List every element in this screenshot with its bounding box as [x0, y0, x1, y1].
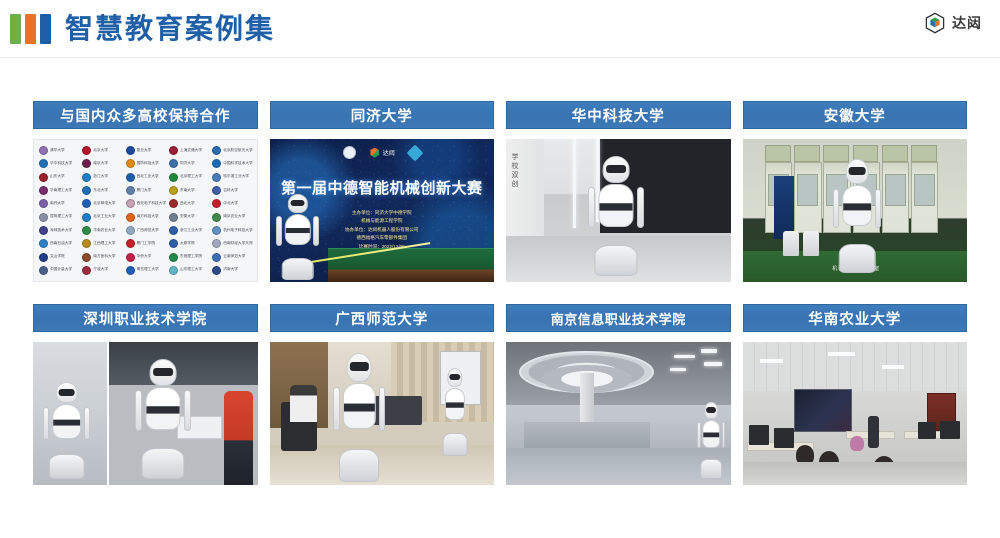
university-logo-item: 广西师范大学: [124, 224, 167, 237]
university-name: 西北大学: [180, 202, 195, 206]
small-robot: [803, 231, 819, 257]
university-seal-icon: [39, 266, 48, 275]
case-card-tongji-university[interactable]: 同济大学 达闼 第一届中德智能机械创新大赛 主办单位：同济大学中德学院机械与能源…: [270, 101, 495, 282]
brand-logo-bars: [10, 14, 51, 44]
university-name: 厦门工学院: [137, 242, 155, 246]
university-seal-icon: [39, 173, 48, 182]
university-seal-icon: [82, 266, 91, 275]
partner-diamond-icon: [406, 144, 423, 161]
university-seal-icon: [126, 159, 135, 168]
university-logo-item: 西北工业大学: [124, 171, 167, 184]
university-seal-icon: [126, 239, 135, 248]
corporate-name: 达闼: [952, 13, 982, 33]
university-name: 山东理工大学: [180, 268, 202, 272]
robot-visor: [849, 167, 866, 175]
humanoid-robot: [134, 359, 192, 479]
university-logo-item: 华中科技大学: [37, 157, 80, 170]
university-logo-item: 吉林大学: [210, 184, 253, 197]
humanoid-robot: [587, 156, 645, 276]
case-card-anhui-university[interactable]: 安徽大学 机器人运动实验室: [743, 101, 968, 282]
university-name: 广西师范大学: [137, 229, 159, 233]
robot-visor: [290, 200, 305, 206]
university-name: 西北工业大学: [137, 175, 159, 179]
computer-monitor: [774, 428, 794, 448]
university-name: 华中科技大学: [50, 162, 72, 166]
storage-bin: [794, 145, 820, 162]
display-banner: [774, 176, 794, 239]
university-logo-item: 东南大学: [167, 184, 210, 197]
university-seal-icon: [126, 226, 135, 235]
ceiling-light: [828, 352, 855, 356]
university-seal-icon: [169, 199, 178, 208]
university-logo-item: 厦门工学院: [124, 237, 167, 250]
robot-arm-left: [333, 387, 339, 431]
university-seal-icon: [212, 213, 221, 222]
university-name: 复旦大学: [137, 149, 152, 153]
university-seal-icon: [82, 173, 91, 182]
university-name: 浙江工业大学: [180, 229, 202, 233]
storage-bin: [765, 145, 791, 162]
corridor-robot-image: 学校双创: [506, 139, 731, 282]
university-logo-item: 华南农业大学: [80, 224, 123, 237]
robot-base: [442, 433, 467, 456]
classroom-robots-image: [270, 342, 495, 485]
university-seal-icon: [212, 186, 221, 195]
card-title: 南京信息职业技术学院: [506, 304, 731, 332]
university-seal-icon: [212, 239, 221, 248]
university-logo-item: 西南财经大学天府学院: [210, 237, 253, 250]
university-logo-item: 北京理工大学: [167, 171, 210, 184]
case-card-huazhong-university[interactable]: 华中科技大学 学校双创: [506, 101, 731, 282]
lab-floor: [743, 462, 968, 485]
robot-visor: [606, 165, 626, 173]
university-name: 文山学院: [50, 255, 65, 259]
university-name: 东南大学: [180, 189, 195, 193]
university-name: 吉林大学: [223, 189, 238, 193]
robot-arm-left: [135, 390, 142, 431]
university-name: 厦门大学: [137, 189, 152, 193]
university-seal-icon: [39, 199, 48, 208]
robot-arm-right: [84, 407, 90, 440]
robot-torso: [343, 383, 375, 429]
robot-illustration: [276, 194, 320, 280]
robot-base: [701, 459, 723, 479]
storage-bin: [911, 145, 937, 162]
university-name: 中国科学技术大学: [223, 162, 253, 166]
card-title: 华中科技大学: [506, 101, 731, 129]
university-seal-icon: [39, 146, 48, 155]
university-seal-icon: [39, 239, 48, 248]
university-name: 北京邮电大学: [93, 202, 115, 206]
university-name: 昆明理工大学: [50, 215, 72, 219]
university-seal-icon: [169, 186, 178, 195]
case-card-nanjing-vocational-college[interactable]: 南京信息职业技术学院: [506, 304, 731, 485]
university-name: 深圳技术大学: [50, 229, 72, 233]
university-seal-icon: [82, 253, 91, 262]
ceiling-light: [760, 359, 782, 363]
robot-torso: [146, 387, 181, 430]
robot-arm-right: [875, 189, 881, 228]
university-logo-item: 东北大学: [80, 184, 123, 197]
robot-visor: [350, 362, 368, 371]
poster-brand-text: 达闼: [383, 148, 395, 157]
university-logo-item: 清华大学: [37, 144, 80, 157]
card-media: 学校双创: [506, 139, 731, 282]
university-seal-icon: [82, 159, 91, 168]
university-seal-icon: [82, 199, 91, 208]
university-name: 江西理工大学: [93, 242, 115, 246]
card-media: 达闼 第一届中德智能机械创新大赛 主办单位：同济大学中德学院机械与能源工程学院协…: [270, 139, 495, 282]
university-logo-item: 华南理工大学: [37, 184, 80, 197]
robot-arm-right: [379, 387, 385, 431]
university-logo-item: 东莞理工学院: [167, 250, 210, 263]
university-logo-item: 青岛理工大学: [124, 264, 167, 277]
robot-arm-left: [43, 407, 49, 440]
robot-visor: [58, 389, 75, 396]
humanoid-robot-background: [438, 368, 472, 457]
university-logo-item: 杭州电子科技大学: [210, 224, 253, 237]
cabinet-glass: [885, 174, 906, 206]
university-logo-item: 安徽大学: [167, 211, 210, 224]
university-logo-item: 宁波大学: [80, 264, 123, 277]
robot-arm-left: [697, 422, 701, 448]
card-media: [33, 342, 258, 485]
robot-arm-right: [637, 187, 644, 228]
university-logo-item: 济南大学: [210, 264, 253, 277]
university-logo-item: 上海交通大学: [167, 144, 210, 157]
university-seal-icon: [343, 146, 356, 159]
university-logo-item: 南方科技大学: [124, 211, 167, 224]
university-seal-icon: [82, 146, 91, 155]
university-logo-item: 复旦大学: [124, 144, 167, 157]
university-logo-item: 太原学院: [167, 237, 210, 250]
university-logo-item: 浙江大学: [80, 171, 123, 184]
ceiling-light: [882, 365, 904, 369]
robot-torso: [445, 388, 465, 420]
university-logo-item: 北京航空航天大学: [210, 144, 253, 157]
card-title: 广西师范大学: [270, 304, 495, 332]
cabinet-glass: [914, 174, 935, 206]
card-media: 清华大学北京大学复旦大学上海交通大学北京航空航天大学华中科技大学南京大学国防科技…: [33, 139, 258, 282]
university-logo-wall: 清华大学北京大学复旦大学上海交通大学北京航空航天大学华中科技大学南京大学国防科技…: [33, 139, 258, 282]
university-name: 西南石油大学: [50, 242, 72, 246]
brand-bar-orange: [25, 14, 36, 44]
billiard-table-decoration: [328, 248, 494, 282]
page-header: 智慧教育案例集 达闼: [0, 0, 1000, 58]
cabinet-glass: [797, 174, 818, 206]
case-grid: 与国内众多高校保持合作 清华大学北京大学复旦大学上海交通大学北京航空航天大学华中…: [0, 101, 1000, 485]
university-seal-icon: [169, 266, 178, 275]
university-name: 北京工业大学: [93, 215, 115, 219]
university-name: 同济大学: [180, 162, 195, 166]
ceiling-tiles: [743, 342, 968, 391]
lab-robot-image: 机器人运动实验室: [743, 139, 968, 282]
card-media: [743, 342, 968, 485]
lobby-interior-image: [506, 342, 731, 485]
university-logo-item: 南方医科大学: [80, 250, 123, 263]
header-divider: [0, 57, 1000, 58]
university-name: 杭州电子科技大学: [223, 229, 253, 233]
case-card-partner-universities[interactable]: 与国内众多高校保持合作 清华大学北京大学复旦大学上海交通大学北京航空航天大学华中…: [33, 101, 258, 282]
ceiling-light: [670, 368, 686, 371]
university-name: 云南师范大学: [223, 255, 245, 259]
card-media: 机器人运动实验室: [743, 139, 968, 282]
university-logo-item: 深圳技术大学: [37, 224, 80, 237]
university-logo-item: 北京大学: [80, 144, 123, 157]
university-logo-item: 华侨大学: [124, 250, 167, 263]
university-logo-item: 西北大学: [167, 197, 210, 210]
university-seal-icon: [126, 173, 135, 182]
university-seal-icon: [169, 239, 178, 248]
university-logo-item: 南京大学: [80, 157, 123, 170]
university-name: 浙江大学: [93, 175, 108, 179]
university-name: 济南大学: [223, 268, 238, 272]
humanoid-robot: [332, 353, 386, 482]
university-seal-icon: [39, 253, 48, 262]
university-name: 清华大学: [50, 149, 65, 153]
robot-torso: [284, 214, 310, 245]
robot-arm-right: [313, 216, 318, 245]
humanoid-robot: [697, 402, 726, 479]
robot-arm-left: [276, 216, 281, 245]
storage-bin: [882, 145, 908, 162]
robot-torso: [842, 185, 872, 226]
brand-bar-green: [10, 14, 21, 44]
university-name: 太原学院: [180, 242, 195, 246]
robot-legs: [594, 245, 637, 276]
university-seal-icon: [82, 226, 91, 235]
university-seal-icon: [212, 173, 221, 182]
university-name: 南开大学: [50, 202, 65, 206]
robot-torso: [598, 184, 633, 227]
light-strip-vertical: [573, 139, 576, 228]
university-name: 上海交通大学: [180, 149, 202, 153]
robot-base: [142, 448, 185, 479]
university-seal-icon: [39, 159, 48, 168]
university-seal-icon: [126, 213, 135, 222]
robot-base: [281, 258, 314, 280]
university-seal-icon: [169, 146, 178, 155]
small-robot: [783, 231, 799, 257]
university-logo-item: 文山学院: [37, 250, 80, 263]
page-title: 智慧教育案例集: [65, 15, 275, 43]
university-logo-item: 江西理工大学: [80, 237, 123, 250]
university-name: 中国计量大学: [50, 268, 72, 272]
university-logo-wall-image: 清华大学北京大学复旦大学上海交通大学北京航空航天大学华中科技大学南京大学国防科技…: [33, 139, 258, 282]
university-seal-icon: [169, 253, 178, 262]
university-seal-icon: [126, 199, 135, 208]
large-display-screen: [794, 389, 852, 432]
university-seal-icon: [126, 186, 135, 195]
card-media: [506, 342, 731, 485]
hex-cube-icon: [370, 148, 380, 158]
ceiling-light: [701, 349, 717, 353]
university-name: 北京大学: [93, 149, 108, 153]
computer-monitor: [749, 425, 769, 445]
university-name: 华侨大学: [137, 255, 152, 259]
university-logo-item: 北京工业大学: [80, 211, 123, 224]
case-card-guangxi-normal-university[interactable]: 广西师范大学: [270, 304, 495, 485]
university-seal-icon: [212, 199, 221, 208]
robot-base: [48, 454, 85, 479]
university-seal-icon: [212, 253, 221, 262]
university-logo-item: 南开大学: [37, 197, 80, 210]
university-seal-icon: [212, 146, 221, 155]
robot-arm-left: [588, 187, 595, 228]
card-title: 安徽大学: [743, 101, 968, 129]
university-name: 北京航空航天大学: [223, 149, 253, 153]
university-seal-icon: [169, 226, 178, 235]
robot-visor: [449, 374, 460, 380]
university-seal-icon: [212, 159, 221, 168]
robot-arm-left: [833, 189, 839, 228]
robot-arm-right: [184, 390, 191, 431]
humanoid-robot: [42, 382, 91, 479]
university-seal-icon: [39, 226, 48, 235]
computer-monitor: [918, 422, 936, 439]
case-card-shenzhen-polytechnic[interactable]: 深圳职业技术学院: [33, 304, 258, 485]
university-logo-item: 西安电子科技大学: [124, 197, 167, 210]
university-name: 山东大学: [50, 175, 65, 179]
university-logo-item: 中国科学技术大学: [210, 157, 253, 170]
robot-arm-right: [722, 422, 726, 448]
university-seal-icon: [169, 213, 178, 222]
ceiling-light: [674, 355, 694, 359]
seated-student: [290, 385, 317, 422]
lab-cabinet: [882, 162, 909, 234]
university-seal-icon: [212, 266, 221, 275]
wall-caption: 学校双创: [509, 153, 519, 189]
university-name: 东莞理工学院: [180, 255, 202, 259]
dataa-brand-icon: 达闼: [370, 148, 395, 158]
university-name: 南方医科大学: [93, 255, 115, 259]
university-logo-item: 哈尔滨工业大学: [210, 171, 253, 184]
university-name: 青岛理工大学: [137, 268, 159, 272]
university-seal-icon: [126, 146, 135, 155]
student-seated: [850, 436, 863, 450]
university-name: 中北大学: [223, 202, 238, 206]
university-logo-item: 中国计量大学: [37, 264, 80, 277]
university-name: 宁波大学: [93, 268, 108, 272]
card-media: [270, 342, 495, 485]
hex-cube-icon: [924, 12, 946, 34]
university-logo-item: 昆明理工大学: [37, 211, 80, 224]
university-name: 北京理工大学: [180, 175, 202, 179]
robot-torso: [703, 420, 721, 448]
university-name: 华南农业大学: [93, 229, 115, 233]
university-name: 西安电子科技大学: [137, 202, 167, 206]
poster-logo-row: 达闼: [270, 146, 495, 159]
university-logo-item: 南京农业大学: [210, 211, 253, 224]
card-title: 与国内众多高校保持合作: [33, 101, 258, 129]
computer-lab-image: [743, 342, 968, 485]
lab-cabinet: [911, 162, 938, 234]
university-logo-item: 浙江工业大学: [167, 224, 210, 237]
university-seal-icon: [169, 173, 178, 182]
university-name: 西南财经大学天府学院: [223, 242, 253, 246]
showroom-robots-image: [33, 342, 258, 485]
robot-torso: [52, 404, 82, 439]
robot-base: [339, 449, 379, 482]
robot-legs: [839, 244, 876, 274]
brand-bar-blue: [40, 14, 51, 44]
university-seal-icon: [39, 186, 48, 195]
university-logo-item: 中北大学: [210, 197, 253, 210]
university-seal-icon: [39, 213, 48, 222]
corporate-logo: 达闼: [924, 12, 982, 34]
university-logo-item: 云南师范大学: [210, 250, 253, 263]
card-title: 华南农业大学: [743, 304, 968, 332]
person-in-red-shirt: [224, 391, 253, 485]
university-name: 国防科技大学: [137, 162, 159, 166]
university-logo-item: 北京邮电大学: [80, 197, 123, 210]
lab-cabinet: [794, 162, 821, 234]
university-name: 安徽大学: [180, 215, 195, 219]
university-name: 南京大学: [93, 162, 108, 166]
competition-poster-image: 达闼 第一届中德智能机械创新大赛 主办单位：同济大学中德学院机械与能源工程学院协…: [270, 139, 495, 282]
computer-monitor: [940, 421, 960, 440]
university-name: 东北大学: [93, 189, 108, 193]
robot-visor: [706, 407, 716, 412]
robot-visor: [153, 368, 173, 376]
card-title: 深圳职业技术学院: [33, 304, 258, 332]
university-name: 南方科技大学: [137, 215, 159, 219]
university-seal-icon: [169, 159, 178, 168]
university-logo-item: 同济大学: [167, 157, 210, 170]
university-seal-icon: [126, 253, 135, 262]
university-logo-item: 厦门大学: [124, 184, 167, 197]
university-name: 华南理工大学: [50, 189, 72, 193]
case-card-south-china-agricultural-university[interactable]: 华南农业大学: [743, 304, 968, 485]
card-title: 同济大学: [270, 101, 495, 129]
university-logo-item: 西南石油大学: [37, 237, 80, 250]
humanoid-robot: [832, 159, 881, 273]
university-seal-icon: [126, 266, 135, 275]
university-name: 南京农业大学: [223, 215, 245, 219]
university-logo-item: 国防科技大学: [124, 157, 167, 170]
university-logo-item: 山东理工大学: [167, 264, 210, 277]
university-seal-icon: [212, 226, 221, 235]
university-seal-icon: [82, 239, 91, 248]
ceiling-light: [704, 362, 722, 366]
university-logo-item: 山东大学: [37, 171, 80, 184]
university-seal-icon: [82, 186, 91, 195]
standing-person: [868, 416, 879, 447]
university-name: 哈尔滨工业大学: [223, 175, 249, 179]
university-seal-icon: [82, 213, 91, 222]
